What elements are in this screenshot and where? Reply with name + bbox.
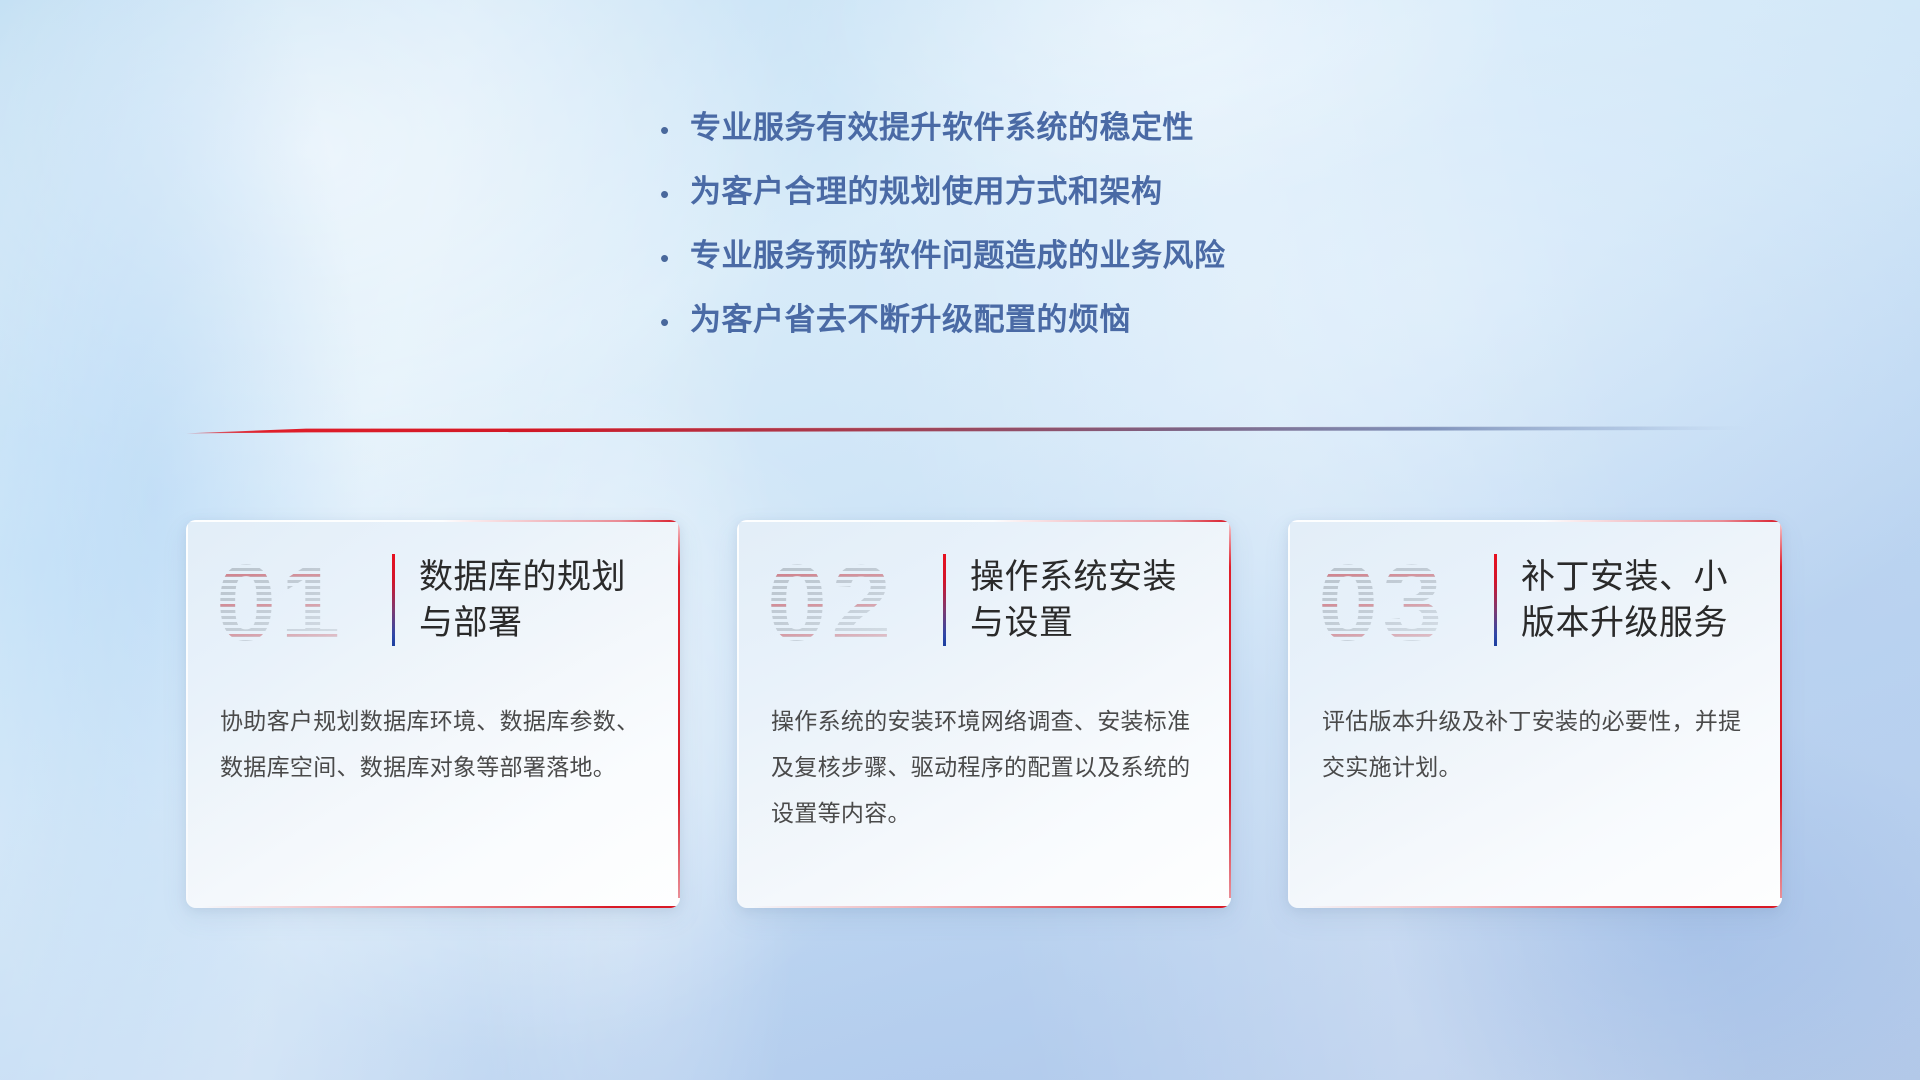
- bullet-text: 为客户省去不断升级配置的烦恼: [690, 300, 1131, 340]
- list-item: • 为客户合理的规划使用方式和架构: [660, 172, 1226, 236]
- card-title: 操作系统安装与设置: [970, 554, 1205, 646]
- card-row: 01 01 数据库的规划与部署 协助客户规划数据库环境、数据库参数、数据库空间、…: [0, 520, 1920, 908]
- bullet-list: • 专业服务有效提升软件系统的稳定性 • 为客户合理的规划使用方式和架构 • 专…: [660, 108, 1226, 364]
- bullet-dot-icon: •: [660, 236, 690, 278]
- card-01[interactable]: 01 01 数据库的规划与部署 协助客户规划数据库环境、数据库参数、数据库空间、…: [186, 520, 680, 908]
- bullet-text: 专业服务预防软件问题造成的业务风险: [690, 236, 1226, 276]
- card-header: 02 02 操作系统安装与设置: [737, 520, 1231, 680]
- bullet-text: 为客户合理的规划使用方式和架构: [690, 172, 1163, 212]
- card-number-02: 02 02: [761, 544, 939, 656]
- card-body-text: 评估版本升级及补丁安装的必要性，并提交实施计划。: [1288, 680, 1782, 790]
- card-edge-bottom-accent: [1304, 906, 1782, 908]
- card-header: 01 01 数据库的规划与部署: [186, 520, 680, 680]
- bullet-dot-icon: •: [660, 300, 690, 342]
- card-title: 补丁安装、小版本升级服务: [1521, 554, 1756, 646]
- slide-canvas: • 专业服务有效提升软件系统的稳定性 • 为客户合理的规划使用方式和架构 • 专…: [0, 0, 1920, 1080]
- card-body-text: 操作系统的安装环境网络调查、安装标准及复核步骤、驱动程序的配置以及系统的设置等内…: [737, 680, 1231, 836]
- card-02[interactable]: 02 02 操作系统安装与设置 操作系统的安装环境网络调查、安装标准及复核步骤、…: [737, 520, 1231, 908]
- card-header: 03 03 补丁安装、小版本升级服务: [1288, 520, 1782, 680]
- card-rule-divider: [1494, 554, 1497, 646]
- bullet-dot-icon: •: [660, 172, 690, 214]
- list-item: • 为客户省去不断升级配置的烦恼: [660, 300, 1226, 364]
- svg-text:01: 01: [216, 544, 344, 656]
- svg-text:03: 03: [1318, 544, 1446, 656]
- list-item: • 专业服务有效提升软件系统的稳定性: [660, 108, 1226, 172]
- bullet-dot-icon: •: [660, 108, 690, 150]
- striped-number-glyph: 02 02: [761, 544, 939, 656]
- bullet-text: 专业服务有效提升软件系统的稳定性: [690, 108, 1194, 148]
- card-edge-bottom-accent: [753, 906, 1231, 908]
- card-number-01: 01 01: [210, 544, 388, 656]
- card-title: 数据库的规划与部署: [419, 554, 654, 646]
- card-rule-divider: [392, 554, 395, 646]
- card-03[interactable]: 03 03 补丁安装、小版本升级服务 评估版本升级及补丁安装的必要性，并提交实施…: [1288, 520, 1782, 908]
- striped-number-glyph: 01 01: [210, 544, 388, 656]
- svg-text:02: 02: [767, 544, 895, 656]
- card-edge-bottom-accent: [202, 906, 680, 908]
- divider-shape: [186, 424, 1746, 438]
- card-number-03: 03 03: [1312, 544, 1490, 656]
- list-item: • 专业服务预防软件问题造成的业务风险: [660, 236, 1226, 300]
- card-rule-divider: [943, 554, 946, 646]
- card-body-text: 协助客户规划数据库环境、数据库参数、数据库空间、数据库对象等部署落地。: [186, 680, 680, 790]
- divider: [186, 424, 1746, 438]
- striped-number-glyph: 03 03: [1312, 544, 1490, 656]
